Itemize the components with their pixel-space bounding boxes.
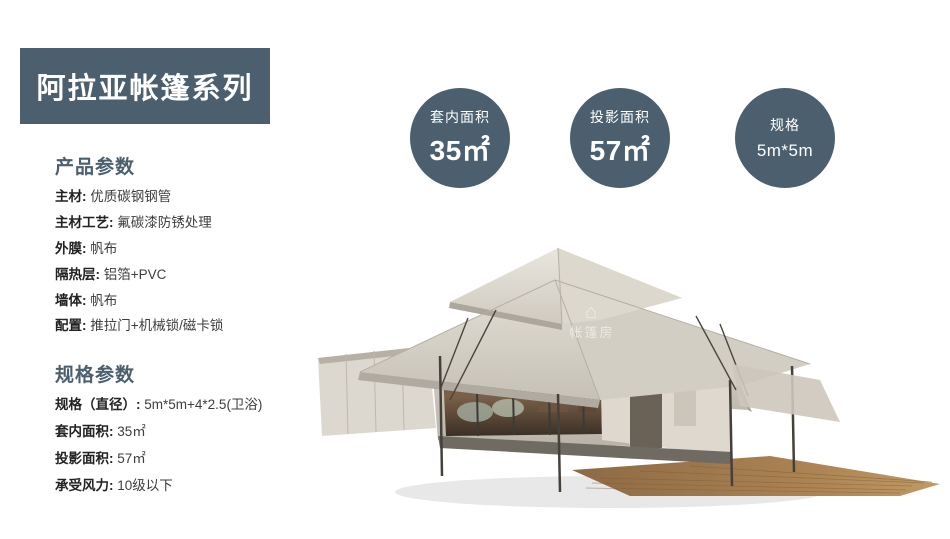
spec-value: 57㎡ xyxy=(117,451,146,466)
stat-circle-value: 5m*5m xyxy=(757,141,813,161)
spec-label: 投影面积: xyxy=(55,451,114,466)
spec-row: 主材: 优质碳钢钢管 xyxy=(55,189,223,206)
product-params-section: 产品参数 主材: 优质碳钢钢管 主材工艺: 氟碳漆防锈处理 外膜: 帆布 隔热层… xyxy=(55,152,223,344)
stat-circle-label: 投影面积 xyxy=(590,107,650,127)
tent-illustration: ⌂ 帐篷房 xyxy=(300,240,950,534)
spec-value: 优质碳钢钢管 xyxy=(90,189,171,204)
stat-circle-interior-area: 套内面积 35㎡ xyxy=(410,88,510,188)
interior-chair xyxy=(457,402,493,422)
spec-row: 隔热层: 铝箔+PVC xyxy=(55,267,223,284)
stat-circle-specification: 规格 5m*5m xyxy=(735,88,835,188)
size-params-section: 规格参数 规格（直径）: 5m*5m+4*2.5(卫浴) 套内面积: 35㎡ 投… xyxy=(55,360,262,505)
spec-label: 规格（直径）: xyxy=(55,397,141,412)
upper-roof-right xyxy=(558,248,682,324)
spec-label: 主材工艺: xyxy=(55,215,114,230)
spec-label: 承受风力: xyxy=(55,478,114,493)
page-title: 阿拉亚帐篷系列 xyxy=(36,65,253,107)
stat-circle-label: 规格 xyxy=(770,115,800,135)
spec-label: 配置: xyxy=(55,318,87,333)
interior-chair-2 xyxy=(492,399,524,417)
spec-label: 隔热层: xyxy=(55,267,100,282)
spec-row: 配置: 推拉门+机械锁/磁卡锁 xyxy=(55,318,223,335)
spec-row: 规格（直径）: 5m*5m+4*2.5(卫浴) xyxy=(55,397,262,414)
stat-circle-value: 35㎡ xyxy=(430,129,491,169)
spec-value: 帆布 xyxy=(90,293,117,308)
spec-value: 推拉门+机械锁/磁卡锁 xyxy=(90,318,223,333)
tent-graphic xyxy=(300,240,950,534)
spec-row: 主材工艺: 氟碳漆防锈处理 xyxy=(55,215,223,232)
spec-value: 铝箔+PVC xyxy=(104,267,167,282)
spec-row: 外膜: 帆布 xyxy=(55,241,223,258)
stat-circle-label: 套内面积 xyxy=(430,107,490,127)
spec-value: 10级以下 xyxy=(117,478,173,493)
spec-label: 外膜: xyxy=(55,241,87,256)
spec-value: 帆布 xyxy=(90,241,117,256)
slide-page: 阿拉亚帐篷系列 产品参数 主材: 优质碳钢钢管 主材工艺: 氟碳漆防锈处理 外膜… xyxy=(0,0,950,534)
spec-value: 35㎡ xyxy=(117,424,146,439)
title-banner: 阿拉亚帐篷系列 xyxy=(20,48,270,124)
size-params-heading: 规格参数 xyxy=(55,360,262,387)
spec-label: 主材: xyxy=(55,189,87,204)
spec-value: 氟碳漆防锈处理 xyxy=(117,215,212,230)
deck-awning xyxy=(732,364,840,422)
stat-circle-value: 57㎡ xyxy=(590,129,651,169)
spec-row: 承受风力: 10级以下 xyxy=(55,478,262,495)
spec-row: 墙体: 帆布 xyxy=(55,293,223,310)
spec-row: 套内面积: 35㎡ xyxy=(55,424,262,441)
spec-label: 墙体: xyxy=(55,293,87,308)
side-door xyxy=(630,390,662,448)
spec-label: 套内面积: xyxy=(55,424,114,439)
spec-value: 5m*5m+4*2.5(卫浴) xyxy=(144,397,262,412)
spec-row: 投影面积: 57㎡ xyxy=(55,451,262,468)
product-params-heading: 产品参数 xyxy=(55,152,223,179)
stat-circle-projected-area: 投影面积 57㎡ xyxy=(570,88,670,188)
